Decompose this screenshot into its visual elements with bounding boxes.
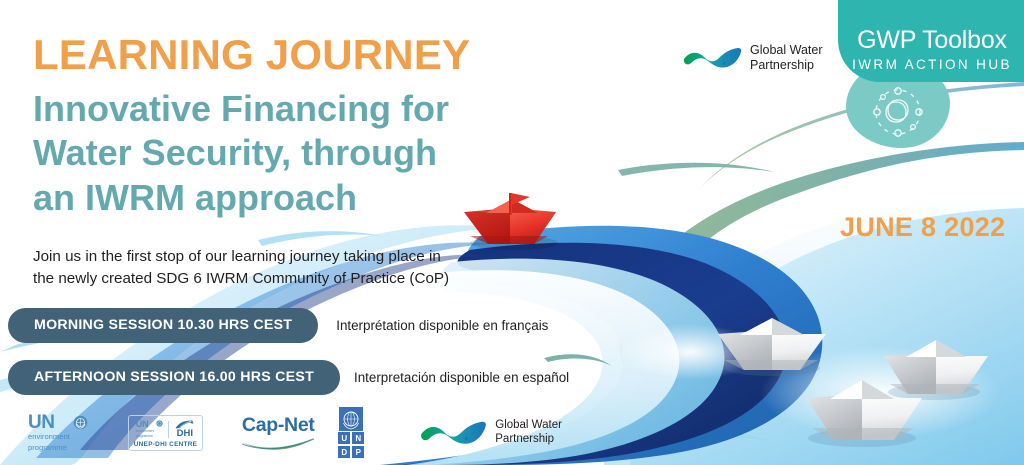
- unep-mark: UN: [28, 413, 70, 432]
- session-row: MORNING SESSION 10.30 HRS CEST Interprét…: [8, 308, 548, 343]
- unepdhi-sub2: programme: [136, 434, 155, 438]
- event-banner: GWP Toolbox IWRM ACTION HUB Global Water: [0, 0, 1024, 465]
- toolbox-subtitle: IWRM ACTION HUB: [846, 58, 1018, 72]
- undp-globe-icon: [339, 407, 363, 431]
- capnet-text: Cap-Net: [242, 416, 315, 436]
- gwp-wave-icon: [419, 418, 489, 448]
- unep-laurel-globe-icon: [73, 415, 88, 430]
- unep-line1: environment: [28, 432, 70, 442]
- undp-letter-p: P: [351, 445, 365, 459]
- unepdhi-mark: UN: [136, 420, 155, 429]
- white-origami-boat: [806, 380, 922, 447]
- undp-letter-u: U: [337, 431, 351, 445]
- logo-unep-dhi[interactable]: UN environment programme: [128, 415, 203, 451]
- undp-letter-n: N: [351, 431, 365, 445]
- white-origami-boat: [718, 318, 826, 376]
- intro-paragraph: Join us in the first stop of our learnin…: [33, 246, 503, 289]
- page-title: LEARNING JOURNEY: [33, 33, 470, 77]
- unepdhi-caption: UNEP-DHI CENTRE: [134, 441, 197, 448]
- gwp-footer-line2: Partnership: [495, 433, 562, 447]
- logo-unep[interactable]: UN environment programme: [28, 413, 88, 452]
- subtitle-line-0: Innovative Financing for: [33, 87, 470, 131]
- afternoon-session-pill[interactable]: AFTERNOON SESSION 16.00 HRS CEST: [8, 360, 340, 395]
- undp-letter-d: D: [337, 445, 351, 459]
- gwp-footer-text: Global Water Partnership: [495, 419, 562, 447]
- unep-line2: programme: [28, 443, 70, 453]
- afternoon-session-note: Interpretación disponible en español: [354, 370, 569, 385]
- gwp-footer-line1: Global Water: [495, 419, 562, 433]
- subtitle-line-1: Water Security, through: [33, 131, 470, 175]
- logo-undp[interactable]: U N D P: [337, 407, 365, 459]
- logo-gwp[interactable]: Global Water Partnership: [419, 418, 562, 448]
- gwp-wave-icon: [682, 45, 744, 71]
- molecule-network-icon: [866, 80, 930, 144]
- session-row: AFTERNOON SESSION 16.00 HRS CEST Interpr…: [8, 360, 569, 395]
- gwp-header-logo: Global Water Partnership: [682, 36, 830, 80]
- morning-session-pill[interactable]: MORNING SESSION 10.30 HRS CEST: [8, 308, 318, 343]
- dhi-brand: DHI: [177, 429, 193, 439]
- gwp-header-line2: Partnership: [750, 58, 822, 73]
- intro-line-1: the newly created SDG 6 IWRM Community o…: [33, 268, 503, 290]
- toolbox-title: GWP Toolbox: [846, 28, 1018, 53]
- red-origami-boat: [464, 193, 558, 250]
- white-origami-boat: [884, 340, 988, 400]
- gwp-header-line1: Global Water: [750, 43, 822, 58]
- capnet-swoosh-icon: [241, 437, 315, 450]
- subtitle-line-2: an IWRM approach: [33, 176, 470, 220]
- footer-logo-strip: UN environment programme: [28, 404, 562, 462]
- gwp-header-text: Global Water Partnership: [750, 43, 822, 73]
- intro-line-0: Join us in the first stop of our learnin…: [33, 246, 503, 268]
- logo-cap-net[interactable]: Cap-Net: [241, 416, 315, 450]
- unep-laurel-globe-icon: [156, 420, 163, 427]
- unepdhi-sub1: environment: [136, 429, 155, 433]
- event-date: JUNE 8 2022: [840, 212, 1005, 243]
- headline-block: LEARNING JOURNEY Innovative Financing fo…: [33, 33, 470, 220]
- morning-session-note: Interprétation disponible en français: [336, 318, 548, 333]
- page-subtitle: Innovative Financing for Water Security,…: [33, 87, 470, 220]
